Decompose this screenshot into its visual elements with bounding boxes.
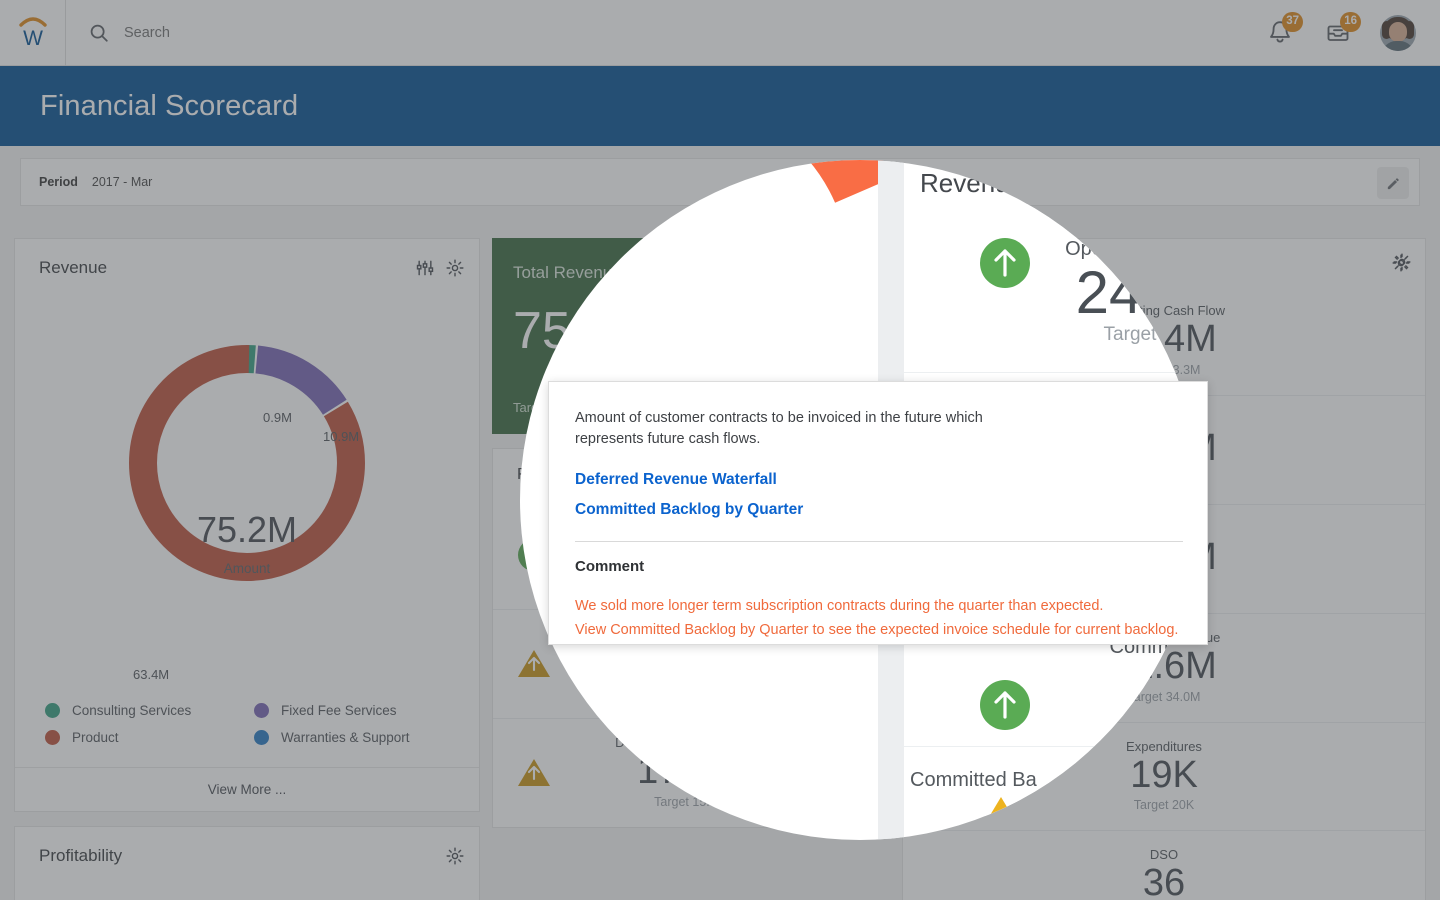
- profitability-card: Profitability Non GAAP Operating Margin …: [14, 826, 480, 900]
- donut-label-left: 63.4M: [133, 667, 169, 682]
- workday-logo-cell[interactable]: W: [0, 0, 66, 66]
- popup-comment-line-1: We sold more longer term subscription co…: [575, 595, 1183, 617]
- page-banner: Financial Scorecard: [0, 66, 1440, 146]
- donut-label-right: 10.9M: [323, 429, 359, 444]
- inbox-button[interactable]: 16: [1322, 17, 1354, 49]
- legend-label: Product: [72, 730, 119, 745]
- legend-label: Fixed Fee Services: [281, 703, 397, 718]
- donut-svg: [117, 333, 377, 593]
- right-arrow-amber-icon: [972, 789, 1030, 840]
- popup-description: Amount of customer contracts to be invoi…: [575, 408, 1005, 449]
- notifications-button[interactable]: 37: [1264, 17, 1296, 49]
- up-arrow-green-icon: [976, 234, 1034, 292]
- search-icon: [88, 22, 110, 44]
- profitability-card-header: Profitability: [15, 827, 479, 885]
- global-header-actions: 37 16: [1264, 15, 1440, 51]
- magnified-card-title: Revenue: [920, 168, 1024, 199]
- donut-center-value: 75.2M: [15, 509, 479, 551]
- legend-item[interactable]: Fixed Fee Services: [254, 703, 455, 718]
- magnified-kpi-stack-lower: Committed ... 5 Committed Ba: [904, 630, 1200, 816]
- deferred-revenue-waterfall-link[interactable]: Deferred Revenue Waterfall: [575, 471, 777, 489]
- metric-detail-popup: Amount of customer contracts to be invoi…: [548, 381, 1208, 645]
- committed-backlog-by-quarter-link[interactable]: Committed Backlog by Quarter: [575, 501, 803, 519]
- magnified-kpi-row[interactable]: Committed ... 5: [904, 630, 1200, 746]
- workday-logo: W: [13, 13, 53, 53]
- legend-swatch: [45, 703, 60, 718]
- pencil-icon: [1385, 175, 1402, 192]
- edit-button[interactable]: [1377, 167, 1409, 199]
- popup-comment-heading: Comment: [575, 558, 1183, 575]
- revenue-card: Revenue: [14, 238, 480, 812]
- gear-icon[interactable]: [1392, 252, 1412, 272]
- revenue-card-header: Revenue: [15, 239, 479, 297]
- period-value: 2017 - Mar: [92, 175, 152, 189]
- legend-swatch: [254, 730, 269, 745]
- profitability-card-title: Profitability: [39, 846, 445, 866]
- donut-label-top: 0.9M: [263, 410, 292, 425]
- legend-swatch: [254, 703, 269, 718]
- global-header: W 37: [0, 0, 1440, 66]
- view-more-button[interactable]: View More ...: [15, 767, 479, 811]
- up-arrow-green-icon: [976, 676, 1034, 734]
- kpi-label: DSO: [919, 847, 1409, 862]
- search-input[interactable]: [124, 25, 524, 41]
- magnified-kpi-label: Committed Ba: [904, 769, 1200, 792]
- app-root: W 37: [0, 0, 1440, 900]
- gear-icon[interactable]: [445, 258, 465, 278]
- gear-icon[interactable]: [445, 846, 465, 866]
- magnified-kpi-row[interactable]: Committed Ba: [904, 747, 1200, 816]
- search-area[interactable]: [66, 0, 1264, 66]
- kpi-row[interactable]: Non GAAP Operating Margin 54.1%: [15, 885, 479, 900]
- notifications-badge: 37: [1282, 12, 1303, 32]
- kpi-value: 36: [919, 864, 1409, 900]
- revenue-legend: Consulting Services Fixed Fee Services P…: [15, 697, 479, 767]
- column-left: Revenue: [14, 238, 480, 900]
- legend-item[interactable]: Product: [45, 730, 246, 745]
- popup-divider: [575, 541, 1183, 542]
- legend-label: Consulting Services: [72, 703, 191, 718]
- donut-center-label: Amount: [15, 561, 479, 576]
- revenue-card-title: Revenue: [39, 258, 415, 278]
- page-title: Financial Scorecard: [0, 90, 298, 123]
- magnified-kpi-value: 5: [1014, 659, 1200, 722]
- filter-sliders-icon[interactable]: [415, 258, 435, 278]
- magnified-kpi-row[interactable]: Operating Cash Flow 24.4M Target 23.3M: [904, 204, 1200, 372]
- period-label: Period: [39, 175, 78, 189]
- magnified-kpi-target: Target 23.3M: [994, 324, 1200, 346]
- kpi-row[interactable]: DSO 36 Target 65: [903, 831, 1425, 900]
- inbox-badge: 16: [1340, 12, 1361, 32]
- popup-comment-line-2: View Committed Backlog by Quarter to see…: [575, 619, 1183, 641]
- svg-text:W: W: [23, 27, 43, 50]
- revenue-donut-chart: 75.2M Amount 0.9M 10.9M 63.4M: [15, 297, 479, 697]
- legend-item[interactable]: Consulting Services: [45, 703, 246, 718]
- legend-item[interactable]: Warranties & Support: [254, 730, 455, 745]
- avatar[interactable]: [1380, 15, 1416, 51]
- legend-label: Warranties & Support: [281, 730, 410, 745]
- bookings-gear-wrap[interactable]: [1392, 252, 1412, 272]
- legend-swatch: [45, 730, 60, 745]
